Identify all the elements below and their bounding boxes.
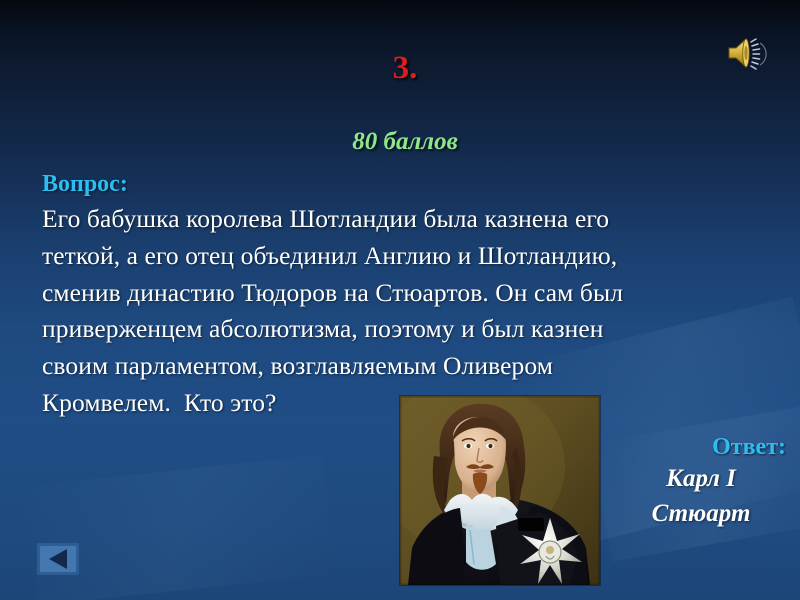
question-block: Вопрос: Его бабушка королева Шотландии б… — [42, 172, 762, 422]
answer-line: Карл I — [612, 462, 790, 497]
question-line: сменив династию Тюдоров на Стюартов. Он … — [42, 275, 762, 312]
answer-line: Стюарт — [612, 497, 790, 532]
answer-value: Карл I Стюарт — [612, 462, 792, 531]
answer-label: Ответ: — [612, 432, 792, 462]
portrait-image — [400, 396, 600, 585]
points-value: 80 баллов — [0, 128, 800, 156]
question-line: теткой, а его отец объединил Англию и Шо… — [42, 238, 762, 275]
question-line: Его бабушка королева Шотландии была казн… — [42, 201, 762, 238]
back-arrow-icon[interactable] — [36, 542, 80, 576]
question-line: своим парламентом, возглавляемым Оливеро… — [42, 348, 762, 385]
question-line: приверженцем абсолютизма, поэтому и был … — [42, 311, 762, 348]
slide-number: 3. — [0, 50, 800, 87]
background-sheen — [25, 455, 336, 600]
answer-block: Ответ: Карл I Стюарт — [612, 432, 792, 531]
question-label: Вопрос: — [42, 172, 762, 198]
question-text: Его бабушка королева Шотландии была казн… — [42, 201, 762, 422]
presentation-slide: 3. 80 баллов Вопрос: Его бабушка королев… — [0, 0, 800, 600]
